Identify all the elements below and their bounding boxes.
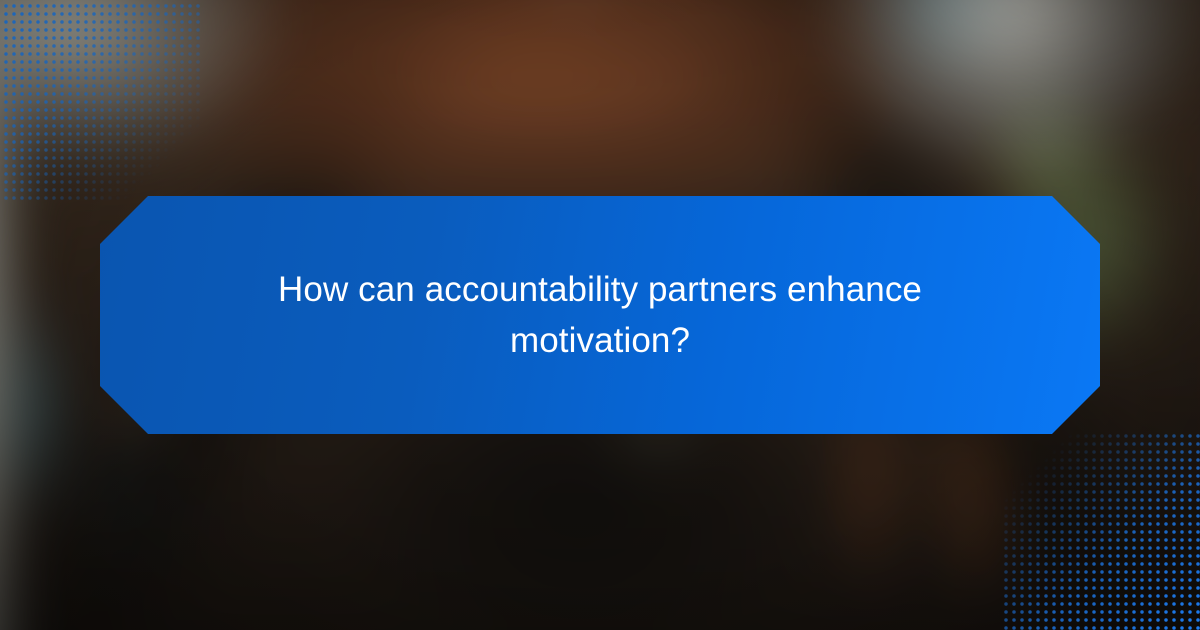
title-banner: How can accountability partners enhance … [100, 196, 1100, 434]
halftone-dots-bottom-right-decoration [1000, 430, 1200, 630]
banner-title-text: How can accountability partners enhance … [190, 264, 1010, 366]
halftone-dots-top-left-decoration [0, 0, 200, 200]
share-card-canvas: How can accountability partners enhance … [0, 0, 1200, 630]
